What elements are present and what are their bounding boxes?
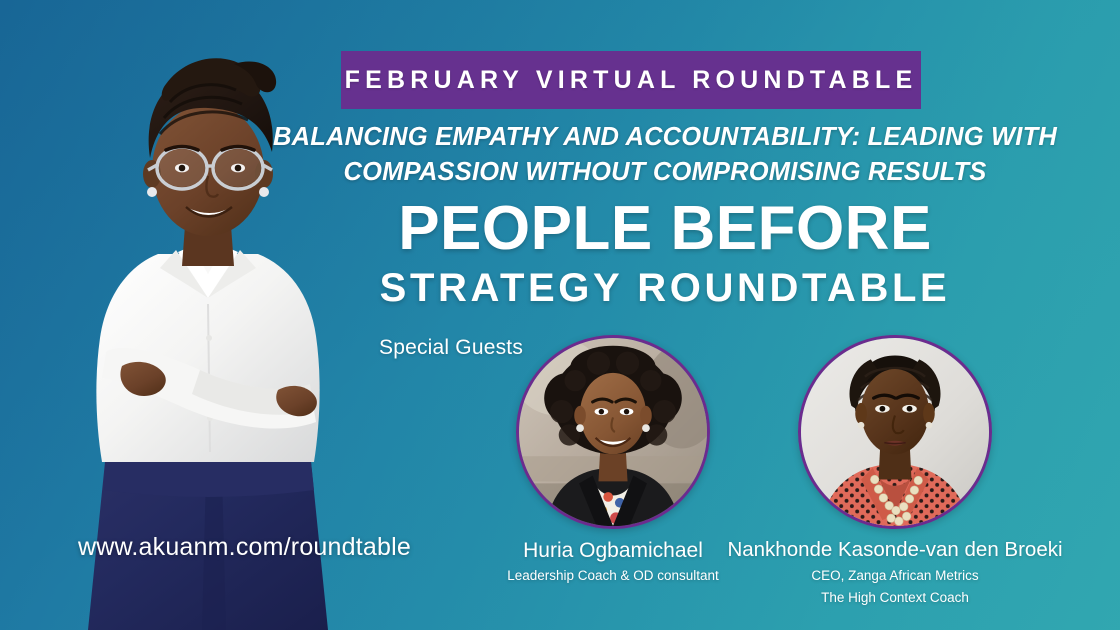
title-sub-line: STRATEGY ROUNDTABLE (330, 266, 1000, 311)
event-banner-text: FEBRUARY VIRTUAL ROUNDTABLE (345, 66, 918, 95)
guest-2-role-line-1: CEO, Zanga African Metrics (700, 566, 1090, 585)
event-title: PEOPLE BEFORE STRATEGY ROUNDTABLE (330, 198, 1000, 311)
guest-card-1 (516, 335, 710, 529)
guest-card-2 (798, 335, 992, 529)
guest-2-avatar (798, 335, 992, 529)
guest-2-role-line-2: The High Context Coach (700, 588, 1090, 607)
promo-poster: FEBRUARY VIRTUAL ROUNDTABLE BALANCING EM… (0, 0, 1120, 630)
guest-1-avatar (516, 335, 710, 529)
registration-url[interactable]: www.akuanm.com/roundtable (78, 533, 411, 562)
guest-2-caption: Nankhonde Kasonde-van den Broeki CEO, Za… (700, 538, 1090, 607)
title-main-line: PEOPLE BEFORE (330, 198, 1000, 260)
guest-2-name: Nankhonde Kasonde-van den Broeki (700, 538, 1090, 563)
